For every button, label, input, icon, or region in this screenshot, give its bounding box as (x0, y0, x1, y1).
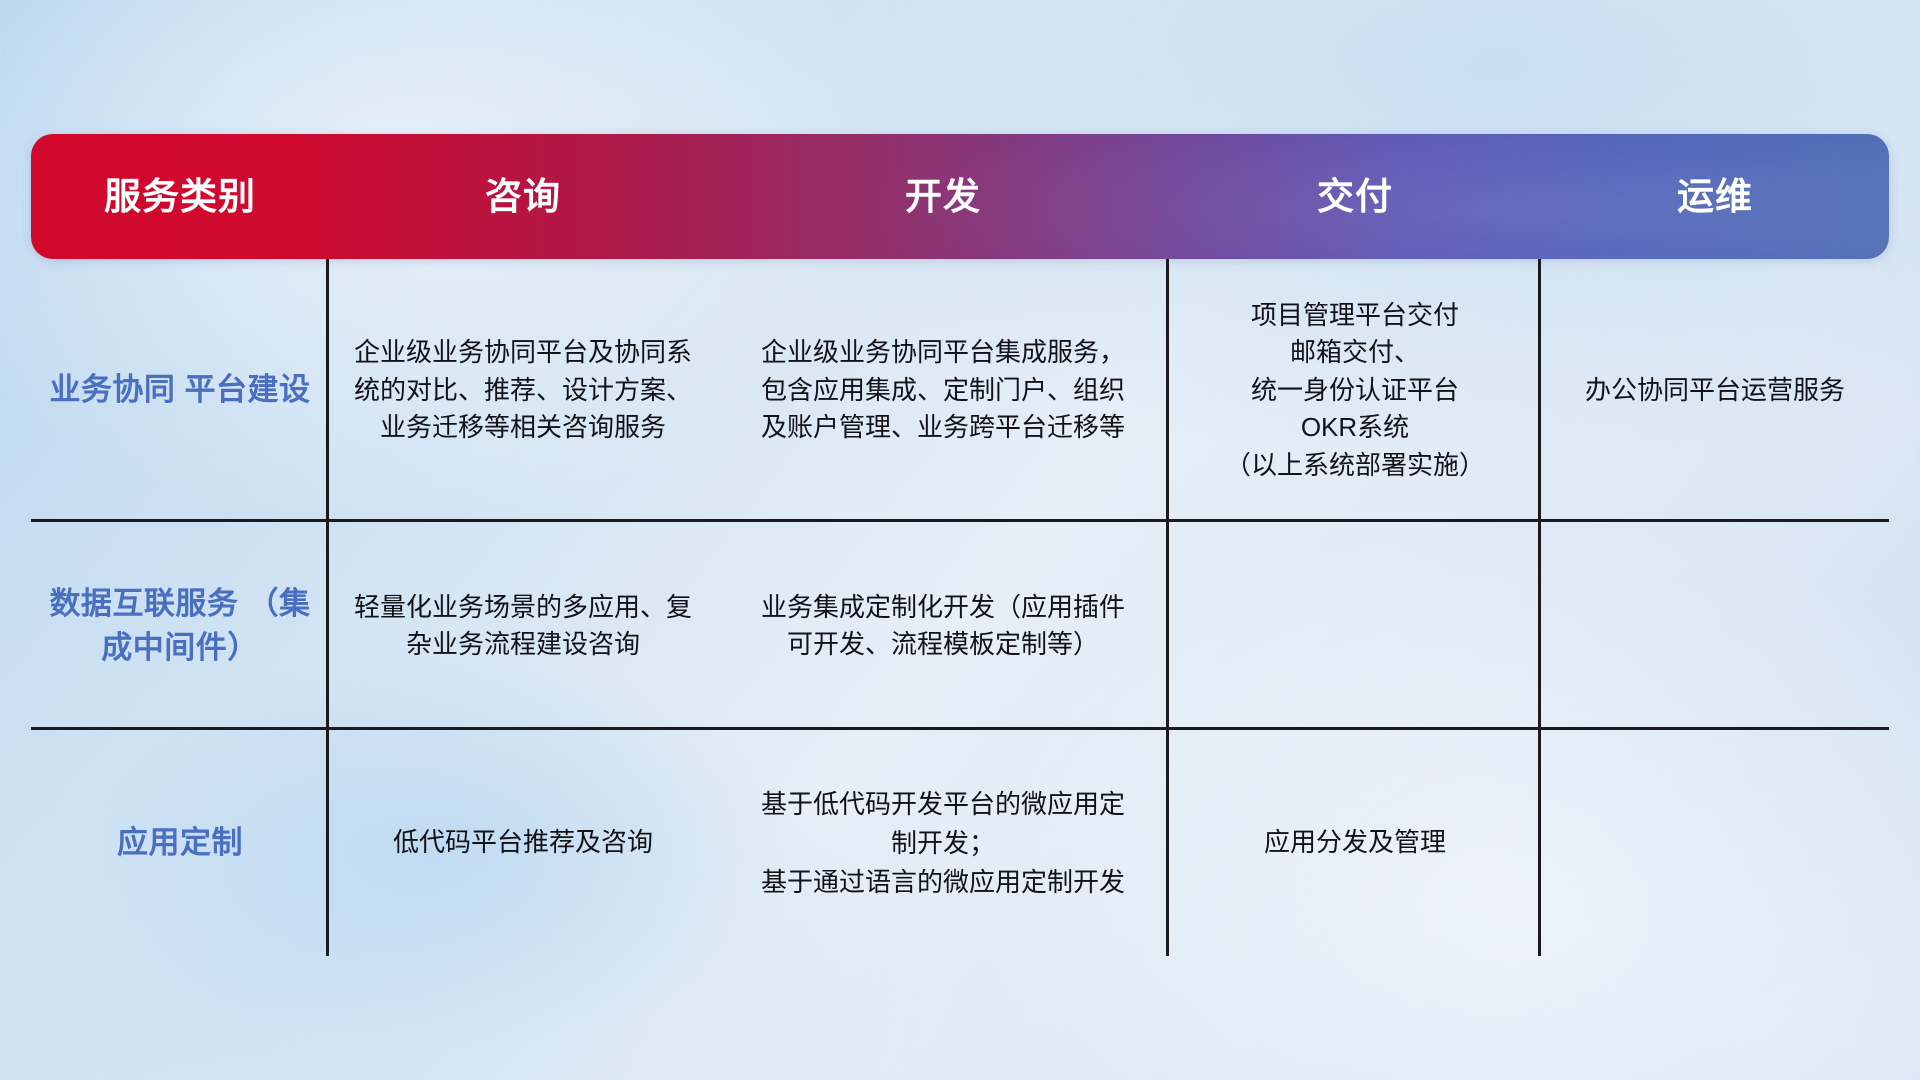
cell-development-2: 业务集成定制化开发（应用插件 可开发、流程模板定制等） (717, 522, 1169, 730)
cell-text: 应用分发及管理 (1264, 824, 1446, 861)
cell-development-3: 基于低代码开发平台的微应用定 制开发； 基于通过语言的微应用定制开发 (717, 730, 1169, 956)
cell-text: 低代码平台推荐及咨询 (393, 824, 653, 861)
cell-delivery-3: 应用分发及管理 (1169, 730, 1541, 956)
cell-text: 企业级业务协同平台集成服务， 包含应用集成、定制门户、组织 及账户管理、业务跨平… (761, 334, 1125, 446)
cell-text: 企业级业务协同平台及协同系 统的对比、推荐、设计方案、 业务迁移等相关咨询服务 (354, 334, 692, 446)
row-label-text: 业务协同 平台建设 (49, 368, 310, 412)
column-header-consulting: 咨询 (329, 178, 717, 215)
column-header-development: 开发 (717, 178, 1169, 215)
row-label-cell-2: 数据互联服务 （集成中间件） (31, 522, 329, 730)
row-label-text: 数据互联服务 （集成中间件） (43, 582, 317, 670)
cell-text: 办公协同平台运营服务 (1585, 372, 1845, 409)
table-row: 业务协同 平台建设 企业级业务协同平台及协同系 统的对比、推荐、设计方案、 业务… (31, 259, 1889, 522)
row-label-cell-1: 业务协同 平台建设 (31, 259, 329, 522)
cell-operations-1: 办公协同平台运营服务 (1541, 259, 1889, 522)
cell-development-1: 企业级业务协同平台集成服务， 包含应用集成、定制门户、组织 及账户管理、业务跨平… (717, 259, 1169, 522)
cell-consulting-2: 轻量化业务场景的多应用、复 杂业务流程建设咨询 (329, 522, 717, 730)
cell-consulting-3: 低代码平台推荐及咨询 (329, 730, 717, 956)
column-header-category: 服务类别 (31, 178, 329, 215)
cell-text: 业务集成定制化开发（应用插件 可开发、流程模板定制等） (761, 589, 1125, 664)
service-matrix-table: 服务类别 咨询 开发 交付 运维 业务协同 平台建设 企业级业务协同平台及协同系… (31, 134, 1889, 956)
cell-text: 轻量化业务场景的多应用、复 杂业务流程建设咨询 (354, 589, 692, 664)
cell-operations-3 (1541, 730, 1889, 956)
table-row: 数据互联服务 （集成中间件） 轻量化业务场景的多应用、复 杂业务流程建设咨询 业… (31, 522, 1889, 730)
cell-text: 基于低代码开发平台的微应用定 制开发； 基于通过语言的微应用定制开发 (761, 785, 1125, 902)
cell-delivery-2 (1169, 522, 1541, 730)
cell-delivery-1: 项目管理平台交付 邮箱交付、 统一身份认证平台 OKR系统 （以上系统部署实施） (1169, 259, 1541, 522)
table-header-row: 服务类别 咨询 开发 交付 运维 (31, 134, 1889, 259)
column-header-operations: 运维 (1541, 178, 1889, 215)
table-row: 应用定制 低代码平台推荐及咨询 基于低代码开发平台的微应用定 制开发； 基于通过… (31, 730, 1889, 956)
table-body: 业务协同 平台建设 企业级业务协同平台及协同系 统的对比、推荐、设计方案、 业务… (31, 259, 1889, 956)
column-header-delivery: 交付 (1169, 178, 1541, 215)
cell-operations-2 (1541, 522, 1889, 730)
cell-text: 项目管理平台交付 邮箱交付、 统一身份认证平台 OKR系统 （以上系统部署实施） (1225, 297, 1485, 484)
row-label-text: 应用定制 (117, 821, 243, 865)
row-label-cell-3: 应用定制 (31, 730, 329, 956)
cell-consulting-1: 企业级业务协同平台及协同系 统的对比、推荐、设计方案、 业务迁移等相关咨询服务 (329, 259, 717, 522)
